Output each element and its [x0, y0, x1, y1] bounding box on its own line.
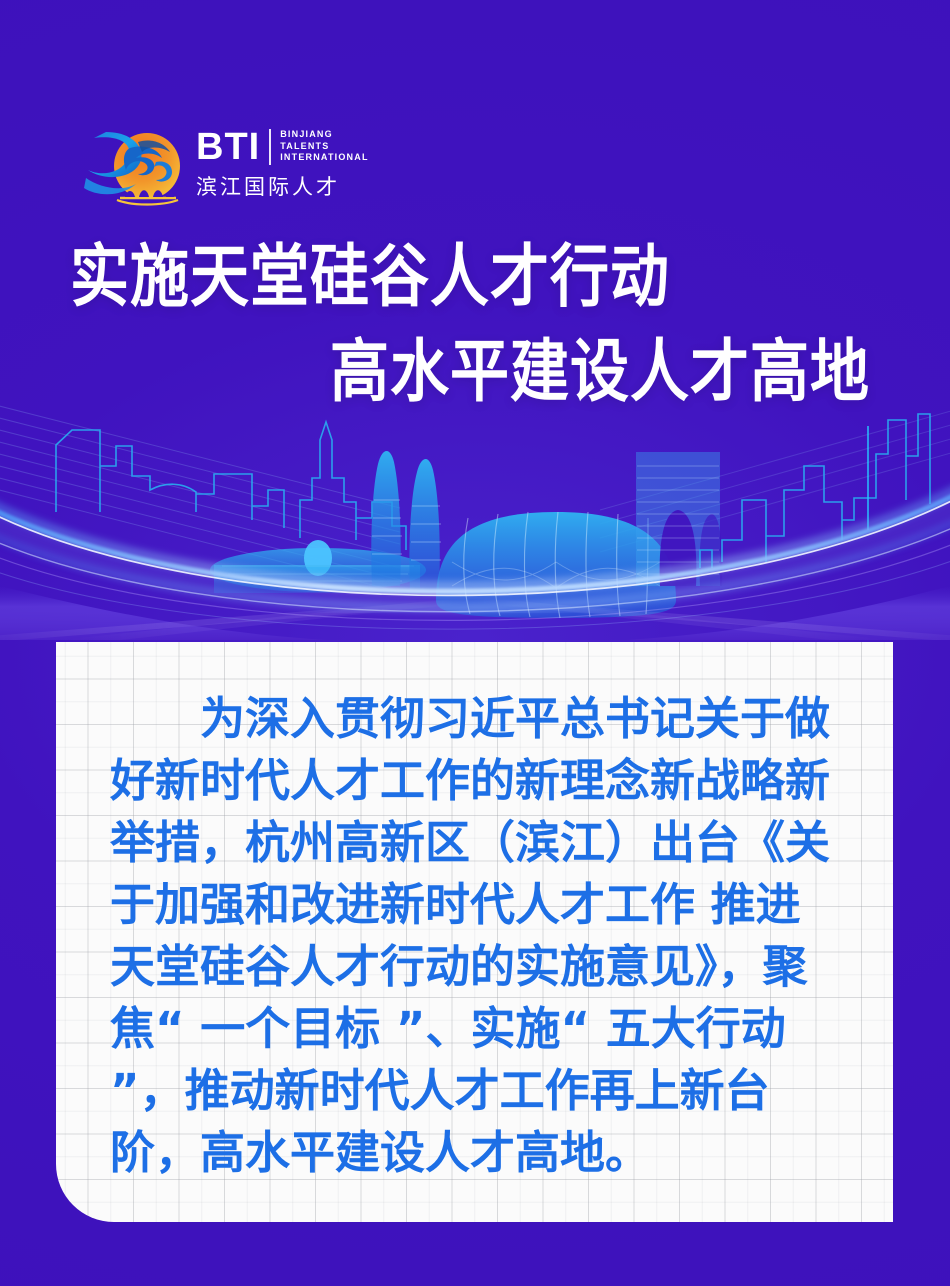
- hangzhou-city-skyline-silhouette: [0, 390, 950, 640]
- brand-logo[interactable]: BTI BINJIANG TALENTS INTERNATIONAL 滨江国际人…: [84, 118, 369, 210]
- hangzhou-grand-theatre-dome: [210, 540, 426, 593]
- logo-chinese-name: 滨江国际人才: [196, 171, 369, 201]
- logo-english-lines: BINJIANG TALENTS INTERNATIONAL: [280, 129, 368, 164]
- gate-arch-building: [636, 452, 722, 586]
- glow-arc-secondary: [0, 506, 950, 629]
- logo-acronym: BTI: [196, 128, 260, 166]
- card-paragraph: 为深入贯彻习近平总书记关于做好新时代人才工作的新理念新战略新举措，杭州高新区（滨…: [56, 642, 893, 1184]
- twin-sail-towers: [371, 451, 441, 590]
- logo-text-block: BTI BINJIANG TALENTS INTERNATIONAL 滨江国际人…: [196, 128, 369, 201]
- right-skyline-towers: [700, 414, 930, 568]
- poster-root: BTI BINJIANG TALENTS INTERNATIONAL 滨江国际人…: [0, 0, 950, 1286]
- left-skyline-towers: [56, 422, 406, 550]
- logo-english-line-3: INTERNATIONAL: [280, 152, 368, 164]
- background-skyline-band: [0, 390, 950, 640]
- logo-english-line-2: TALENTS: [280, 141, 368, 153]
- headline-line-1: 实施天堂硅谷人才行动: [70, 241, 670, 313]
- binjiang-talents-wave-bridge-emblem-icon: [84, 118, 190, 210]
- headline-line-2: 高水平建设人才高地: [330, 336, 870, 408]
- glow-arc-primary: [0, 472, 950, 595]
- content-card: 为深入贯彻习近平总书记关于做好新时代人才工作的新理念新战略新举措，杭州高新区（滨…: [56, 642, 893, 1222]
- olympic-sports-center-lotus-bowl: [436, 512, 676, 618]
- logo-divider: [269, 129, 271, 165]
- logo-english-line-1: BINJIANG: [280, 129, 368, 141]
